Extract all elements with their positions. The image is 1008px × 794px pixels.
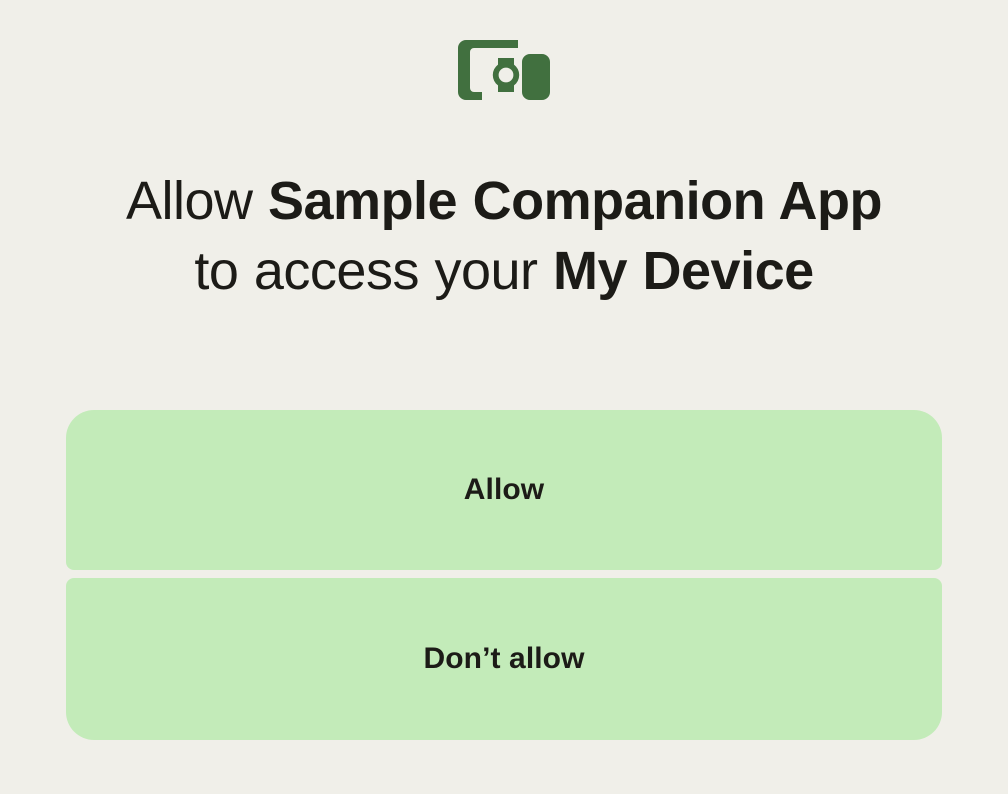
page-title: Allow Sample Companion App to access you… <box>54 166 954 306</box>
headline-device-name: My Device <box>553 241 814 301</box>
devices-icon <box>456 36 552 104</box>
headline-app-name: Sample Companion App <box>268 171 882 231</box>
headline-line-2: to access your My Device <box>54 236 954 306</box>
allow-button[interactable]: Allow <box>66 410 942 570</box>
headline-allow-prefix: Allow <box>126 171 268 231</box>
action-button-group: Allow Don’t allow <box>66 410 942 740</box>
companion-device-permission-dialog: Allow Sample Companion App to access you… <box>0 0 1008 794</box>
headline-line-1: Allow Sample Companion App <box>54 166 954 236</box>
dont-allow-button[interactable]: Don’t allow <box>66 578 942 740</box>
headline-access-prefix: to access your <box>194 241 553 301</box>
